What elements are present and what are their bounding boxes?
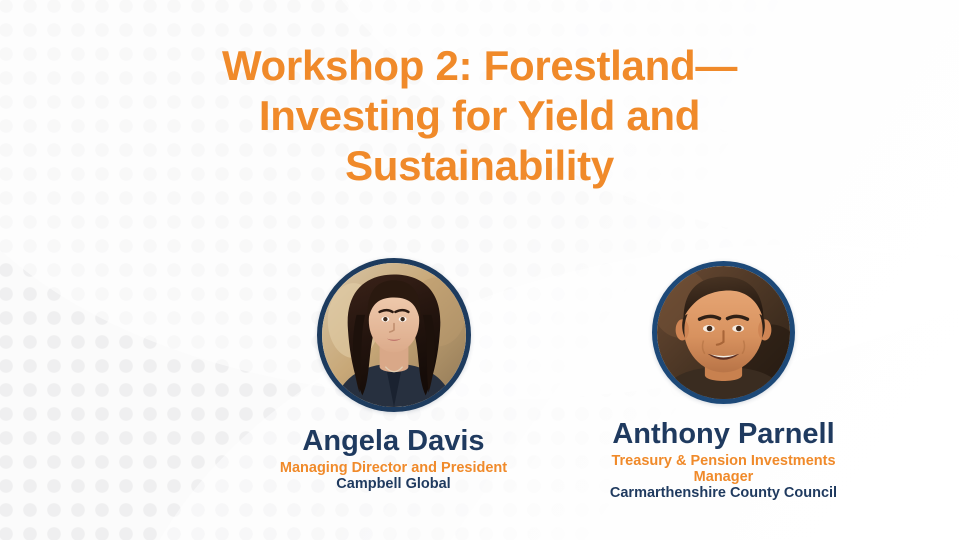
speaker-name: Anthony Parnell [612,418,834,450]
presentation-slide: Workshop 2: Forestland— Investing for Yi… [0,0,959,540]
speaker-name: Angela Davis [302,425,484,457]
speaker-card-angela-davis: Angela Davis Managing Director and Presi… [229,255,559,492]
portrait-illustration [322,263,466,407]
speaker-photo-angela-davis [317,258,471,412]
speaker-role: Managing Director and President [280,460,507,476]
speaker-photo-anthony-parnell [652,261,795,404]
speaker-organization: Campbell Global [336,476,450,492]
slide-title: Workshop 2: Forestland— Investing for Yi… [170,41,790,191]
speaker-role: Treasury & Pension Investments Manager [611,453,835,485]
speaker-organization: Carmarthenshire County Council [610,485,837,501]
speaker-card-anthony-parnell: Anthony Parnell Treasury & Pension Inves… [559,255,889,501]
speaker-list: Angela Davis Managing Director and Presi… [0,255,959,501]
portrait-illustration [657,266,790,399]
